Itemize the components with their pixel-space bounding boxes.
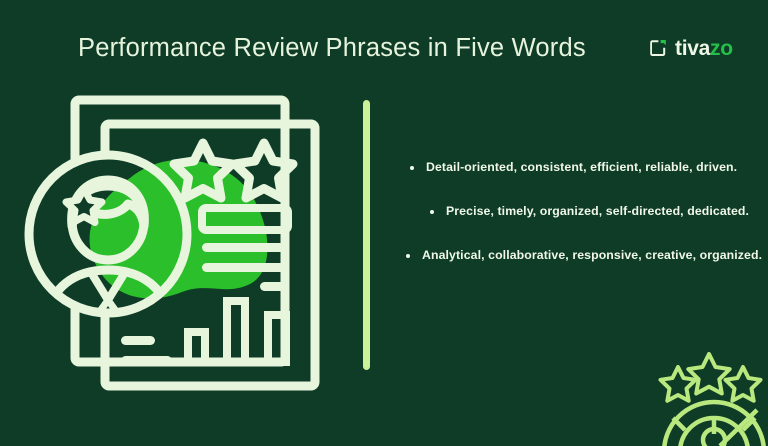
brand-wordmark: tivazo [675,38,733,59]
text-line-1 [202,243,288,252]
gauge-star-right [726,367,761,401]
text-line-short [260,282,288,291]
brand-word-part-1: tiva [675,37,710,60]
brand-logo[interactable]: tivazo [648,38,733,59]
page-title: Performance Review Phrases in Five Words [78,34,586,63]
performance-review-document-illustration [22,86,342,406]
performance-gauge-badge [654,342,768,446]
slide-canvas: Performance Review Phrases in Five Words… [0,0,768,446]
vertical-divider [363,100,370,370]
list-item: Precise, timely, organized, self-directe… [398,204,758,218]
tivazo-square-mark-icon [648,39,667,58]
gauge-star-center [688,354,729,394]
chart-legend-line-2 [121,356,172,365]
phrase-list: Detail-oriented, consistent, efficient, … [398,160,758,262]
brand-word-part-2: zo [710,37,733,60]
bar-chart-bar-3 [268,315,286,362]
text-line-2 [202,263,288,272]
chart-legend-line-1 [121,336,155,345]
bar-chart-bar-2 [227,301,245,362]
list-item: Detail-oriented, consistent, efficient, … [398,160,758,174]
list-item: Analytical, collaborative, responsive, c… [398,248,758,262]
